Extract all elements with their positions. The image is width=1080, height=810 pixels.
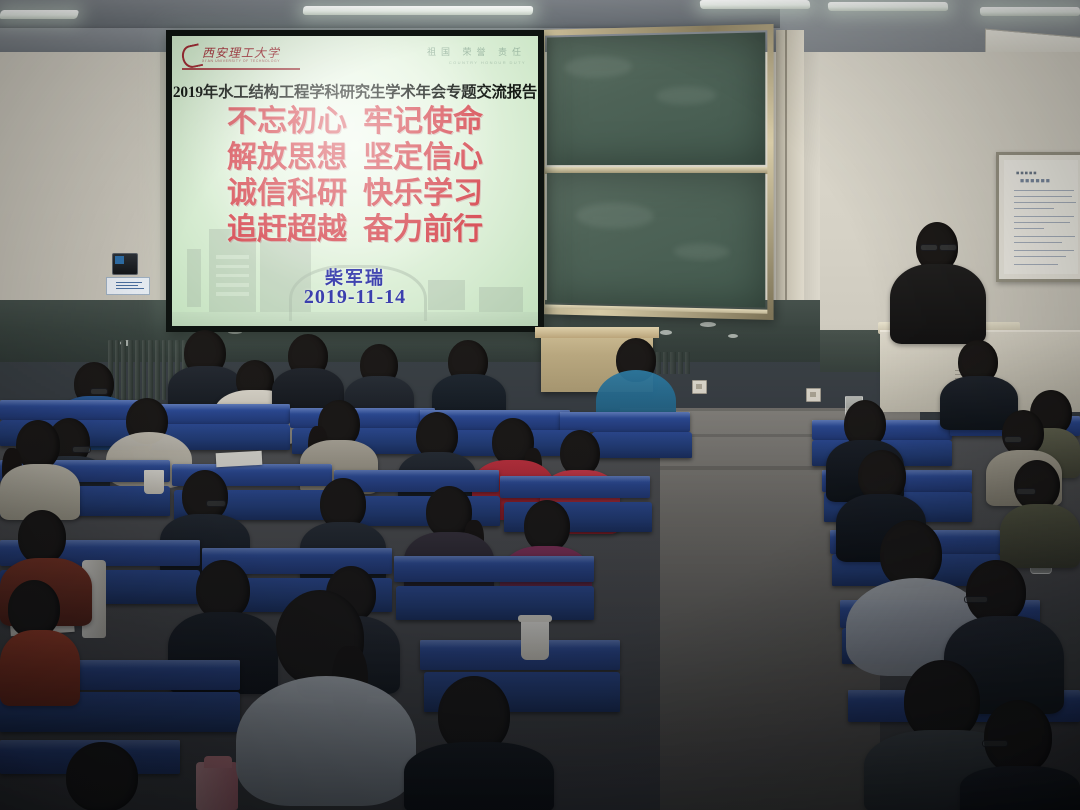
- ceiling-light-icon: [700, 0, 811, 9]
- seat-back: [396, 586, 594, 620]
- slogan-left: 诚信科研: [227, 177, 347, 210]
- slogan-line: 解放思想坚定信心: [172, 140, 538, 176]
- slogan-line: 不忘初心牢记使命: [172, 104, 538, 140]
- student-desk: [560, 412, 690, 432]
- student-desk: [500, 476, 650, 498]
- ceiling-light-icon: [303, 6, 534, 15]
- slogan-left: 追赶超越: [227, 213, 347, 246]
- slide-motto: 祖国 荣誉 责任 COUNTRY HONOUR DUTY: [427, 45, 526, 65]
- audience-member: [404, 676, 554, 810]
- student-desk: [420, 640, 620, 670]
- card-reader-device[interactable]: [112, 253, 138, 275]
- audience-member: [236, 590, 416, 810]
- ceiling-light-icon: [980, 7, 1080, 16]
- thermos-cap: [204, 756, 232, 768]
- audience-member: [0, 580, 80, 700]
- wall-outlet: [692, 380, 707, 394]
- slide-title: 2019年水工结构工程学科研究生学术年会专题交流报告: [172, 80, 538, 102]
- slide-date: 2019-11-14: [172, 286, 538, 309]
- presentation-slide: 西安理工大学 XI'AN UNIVERSITY OF TECHNOLOGY 祖国…: [172, 36, 538, 326]
- motto-en: COUNTRY HONOUR DUTY: [427, 60, 526, 65]
- card-reader-label: [106, 277, 150, 295]
- wall-notice-poster: ◼◼◼◼◼ ◼◼◼◼◼◼: [996, 152, 1080, 282]
- notebook: [216, 451, 263, 467]
- milk-tea-cup: [521, 618, 549, 660]
- wall-outlet: [806, 388, 821, 402]
- ceiling-light-icon: [0, 10, 79, 19]
- ceiling-light-icon: [828, 2, 949, 11]
- audience-member: [1000, 460, 1080, 564]
- university-logo-icon: 西安理工大学 XI'AN UNIVERSITY OF TECHNOLOGY: [182, 44, 302, 70]
- glasses-icon: [920, 244, 938, 251]
- logo-text-en: XI'AN UNIVERSITY OF TECHNOLOGY: [202, 59, 280, 63]
- motto-cn: 祖国 荣誉 责任: [427, 45, 526, 58]
- projection-screen: 西安理工大学 XI'AN UNIVERSITY OF TECHNOLOGY 祖国…: [166, 30, 544, 332]
- slogan-right: 坚定信心: [363, 141, 483, 174]
- speaker: [890, 222, 986, 342]
- audience-member: [0, 420, 80, 510]
- glasses-icon: [939, 244, 957, 251]
- audience-member: [960, 700, 1080, 810]
- slogan-line: 追赶超越奋力前行: [172, 212, 538, 248]
- lecture-hall-photo: ◼◼◼◼◼ ◼◼◼◼◼◼: [0, 0, 1080, 810]
- cup-lid: [518, 615, 552, 622]
- slogan-line: 诚信科研快乐学习: [172, 176, 538, 212]
- slogan-right: 奋力前行: [363, 213, 483, 246]
- blackboard: [539, 24, 773, 320]
- pink-thermos: [196, 762, 238, 810]
- door-frame: [776, 30, 804, 330]
- slogan-left: 解放思想: [227, 141, 347, 174]
- slogan-left: 不忘初心: [227, 105, 347, 138]
- slogan-right: 牢记使命: [363, 105, 483, 138]
- student-desk: [394, 556, 594, 582]
- slogan-right: 快乐学习: [363, 177, 483, 210]
- audience-member: [40, 742, 180, 810]
- slide-slogan-block: 不忘初心牢记使命 解放思想坚定信心 诚信科研快乐学习 追赶超越奋力前行: [172, 104, 538, 248]
